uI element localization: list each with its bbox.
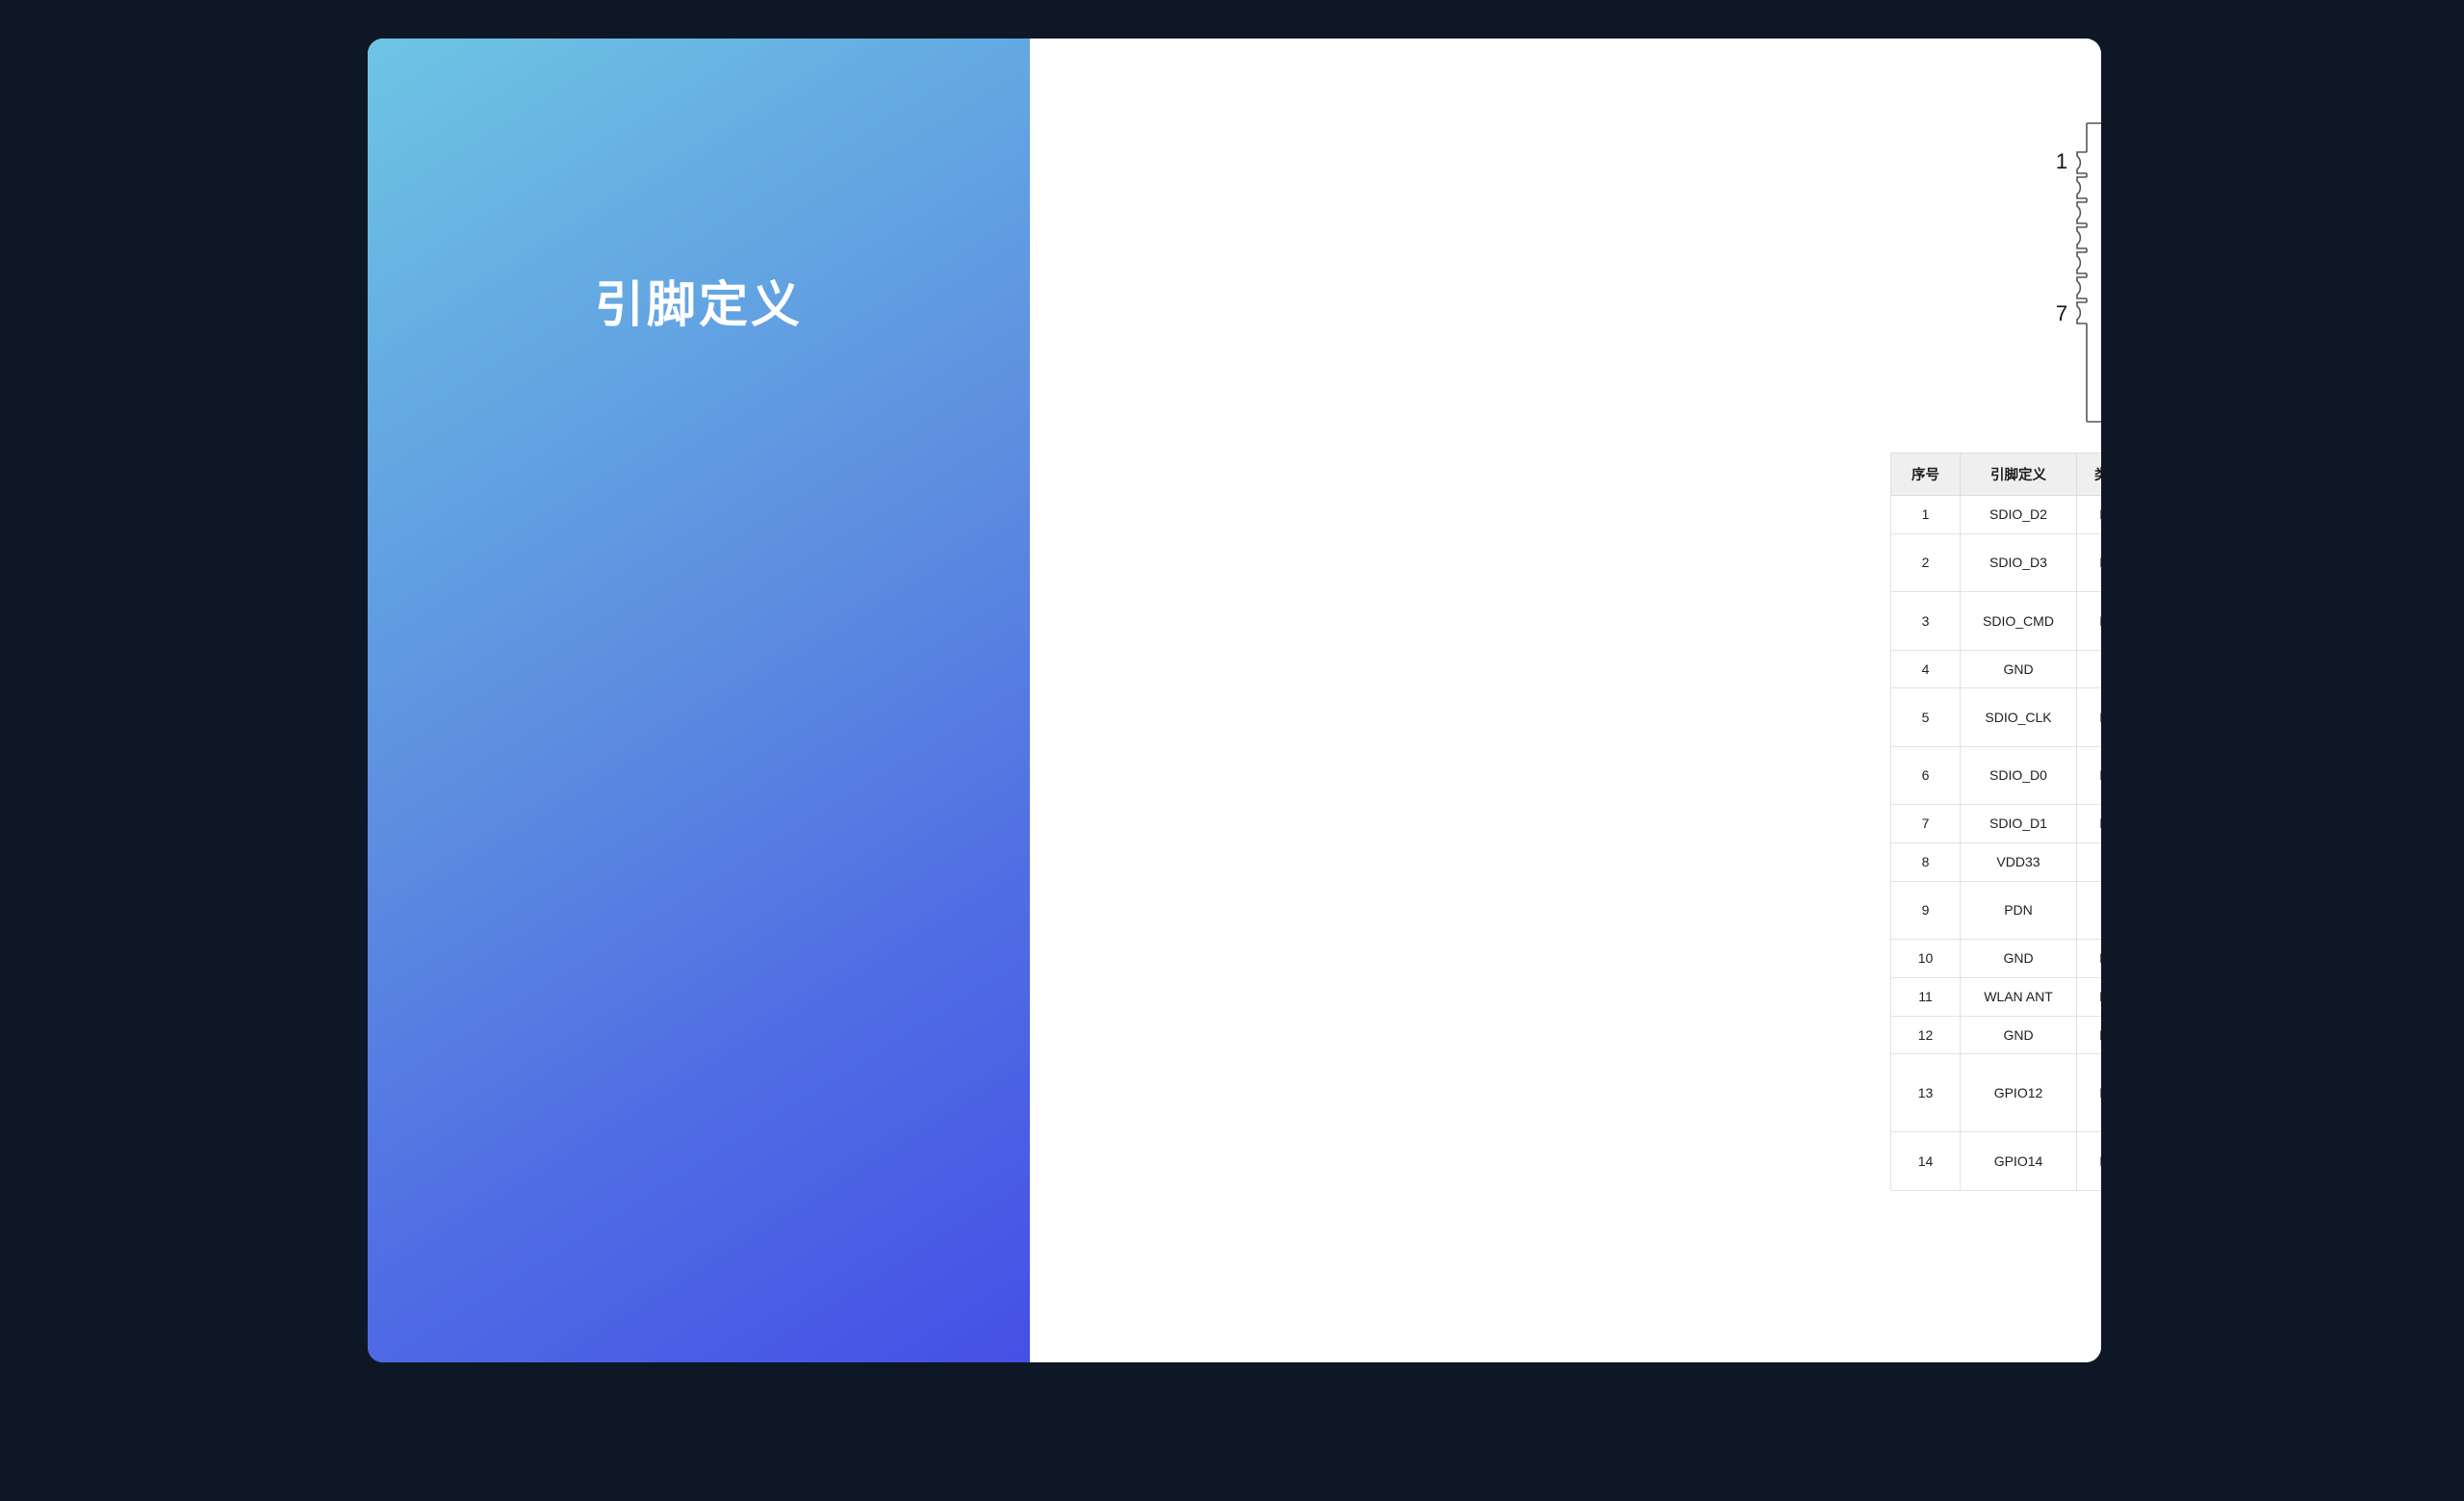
cell-type: I/O <box>2077 746 2102 804</box>
table-row: 12GNDRFRF Ground connections <box>1891 1016 2102 1054</box>
cell-no: 10 <box>1891 940 1961 978</box>
table-row: 11WLAN ANTRFRF Pad for 2.4G WLAN ANT <box>1891 977 2102 1016</box>
cell-type: RF <box>2077 977 2102 1016</box>
table-row: 13GPIO12I/O1. General Purpose I/O Pin GP… <box>1891 1054 2102 1132</box>
table-row: 5SDIO_CLKI/O1. SDIO CLK2. SPI_CLK <box>1891 688 2102 746</box>
cell-no: 14 <box>1891 1132 1961 1190</box>
table-row: 1SDIO_D2I/OSDIO data 2 <box>1891 496 2102 534</box>
table-row: 14GPIO14I/O1. General Purpose I/O Pin GP… <box>1891 1132 2102 1190</box>
table-row: 6SDIO_D0I/O1. SDIO data 02. SPI_MISO <box>1891 746 2102 804</box>
cell-type: I/O <box>2077 496 2102 534</box>
cell-type: I/O <box>2077 688 2102 746</box>
cell-pin-name: SDIO_D3 <box>1961 533 2077 591</box>
page-title: 引脚定义 <box>368 275 1030 334</box>
cell-pin-name: SDIO_CMD <box>1961 592 2077 650</box>
table-header-row: 序号 引脚定义 类型 引脚定义 <box>1891 453 2102 496</box>
cell-type: I/O <box>2077 1054 2102 1132</box>
column-header-no: 序号 <box>1891 453 1961 496</box>
cell-no: 11 <box>1891 977 1961 1016</box>
cell-pin-name: GND <box>1961 650 2077 688</box>
title-panel: 引脚定义 <box>368 39 1030 1362</box>
cell-pin-name: SDIO_D0 <box>1961 746 2077 804</box>
cell-pin-name: GND <box>1961 1016 2077 1054</box>
cell-type: I/O <box>2077 592 2102 650</box>
column-header-pin: 引脚定义 <box>1961 453 2077 496</box>
pin-definition-table: 序号 引脚定义 类型 引脚定义 1SDIO_D2I/OSDIO data 22S… <box>1890 453 2101 1191</box>
cell-pin-name: GPIO12 <box>1961 1054 2077 1132</box>
cell-no: 7 <box>1891 805 1961 843</box>
content-panel: 1 7 14 8 序号 引脚定义 类型 引脚定义 <box>1030 39 2101 1362</box>
cell-type: P <box>2077 650 2102 688</box>
cell-pin-name: SDIO_D2 <box>1961 496 2077 534</box>
cell-no: 1 <box>1891 496 1961 534</box>
slide-card: 引脚定义 <box>368 39 2101 1362</box>
cell-no: 5 <box>1891 688 1961 746</box>
cell-no: 6 <box>1891 746 1961 804</box>
cell-pin-name: VDD33 <box>1961 842 2077 881</box>
cell-type: I <box>2077 881 2102 939</box>
pin-definition-table-container: 序号 引脚定义 类型 引脚定义 1SDIO_D2I/OSDIO data 22S… <box>1890 453 2101 1191</box>
cell-pin-name: WLAN ANT <box>1961 977 2077 1016</box>
cell-pin-name: GND <box>1961 940 2077 978</box>
cell-pin-name: SDIO_CLK <box>1961 688 2077 746</box>
table-row: 7SDIO_D1I/OSDIO data 1 <box>1891 805 2102 843</box>
cell-type: P <box>2077 842 2102 881</box>
cell-type: I/O <box>2077 533 2102 591</box>
cell-pin-name: SDIO_D1 <box>1961 805 2077 843</box>
module-pinout-diagram: 1 7 14 8 <box>2031 114 2101 431</box>
cell-pin-name: PDN <box>1961 881 2077 939</box>
cell-no: 4 <box>1891 650 1961 688</box>
cell-no: 3 <box>1891 592 1961 650</box>
cell-no: 8 <box>1891 842 1961 881</box>
cell-type: RF <box>2077 1016 2102 1054</box>
pin-label-7: 7 <box>2056 301 2067 325</box>
cell-no: 9 <box>1891 881 1961 939</box>
cell-pin-name: GPIO14 <box>1961 1132 2077 1190</box>
cell-type: RF <box>2077 940 2102 978</box>
table-row: 9PDNIReset input signal to reset /power … <box>1891 881 2102 939</box>
table-row: 2SDIO_D3I/O1. SDIO data 32. SPI_CSN <box>1891 533 2102 591</box>
column-header-type: 类型 <box>2077 453 2102 496</box>
table-row: 3SDIO_CMDI/O1. SDIO CMD2. SPI_MOSI <box>1891 592 2102 650</box>
cell-no: 13 <box>1891 1054 1961 1132</box>
table-body: 1SDIO_D2I/OSDIO data 22SDIO_D3I/O1. SDIO… <box>1891 496 2102 1191</box>
left-pin-pads <box>2077 152 2087 323</box>
cell-type: I/O <box>2077 805 2102 843</box>
pin-label-1: 1 <box>2056 149 2067 173</box>
table-row: 4GNDPGround connections <box>1891 650 2102 688</box>
cell-no: 12 <box>1891 1016 1961 1054</box>
module-pinout-svg: 1 7 14 8 <box>2031 114 2101 431</box>
cell-no: 2 <box>1891 533 1961 591</box>
table-row: 8VDD33PDC3.3V power supply <box>1891 842 2102 881</box>
cell-type: I/O <box>2077 1132 2102 1190</box>
table-row: 10GNDRFRF Ground connections <box>1891 940 2102 978</box>
